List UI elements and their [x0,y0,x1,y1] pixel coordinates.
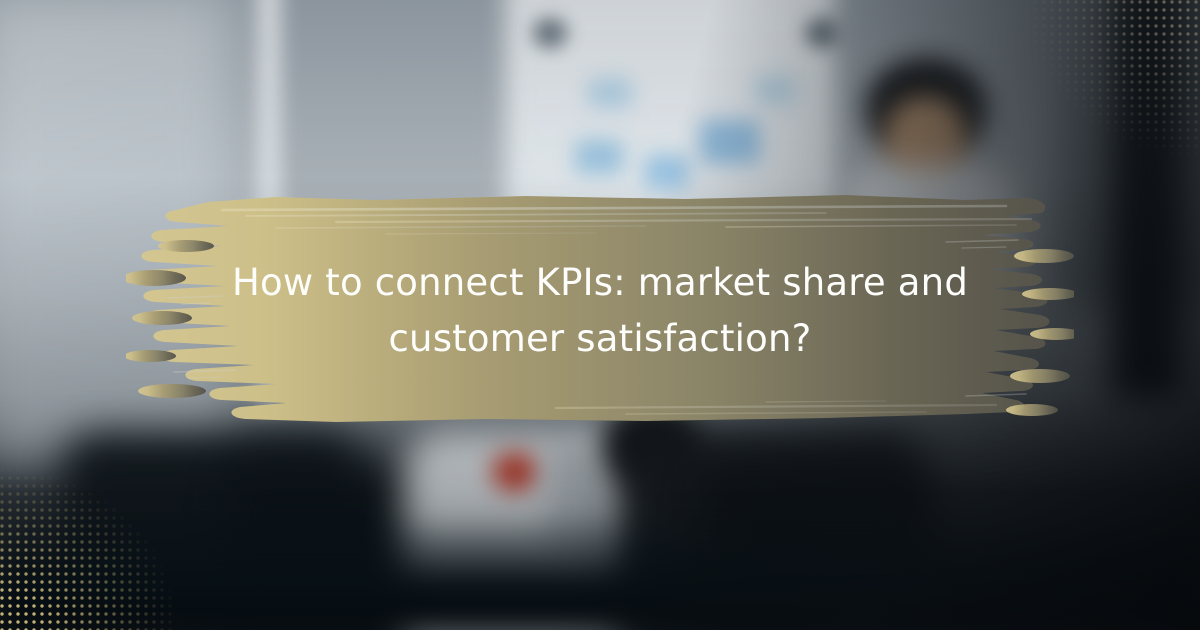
share-card: How to connect KPIs: market share and cu… [0,0,1200,630]
headline-line-2: customer satisfaction? [232,311,968,367]
halftone-dots-top-right-icon [970,0,1200,200]
headline: How to connect KPIs: market share and cu… [0,198,1200,424]
halftone-dots-bottom-left-icon [0,420,230,630]
headline-line-1: How to connect KPIs: market share and [232,255,968,311]
